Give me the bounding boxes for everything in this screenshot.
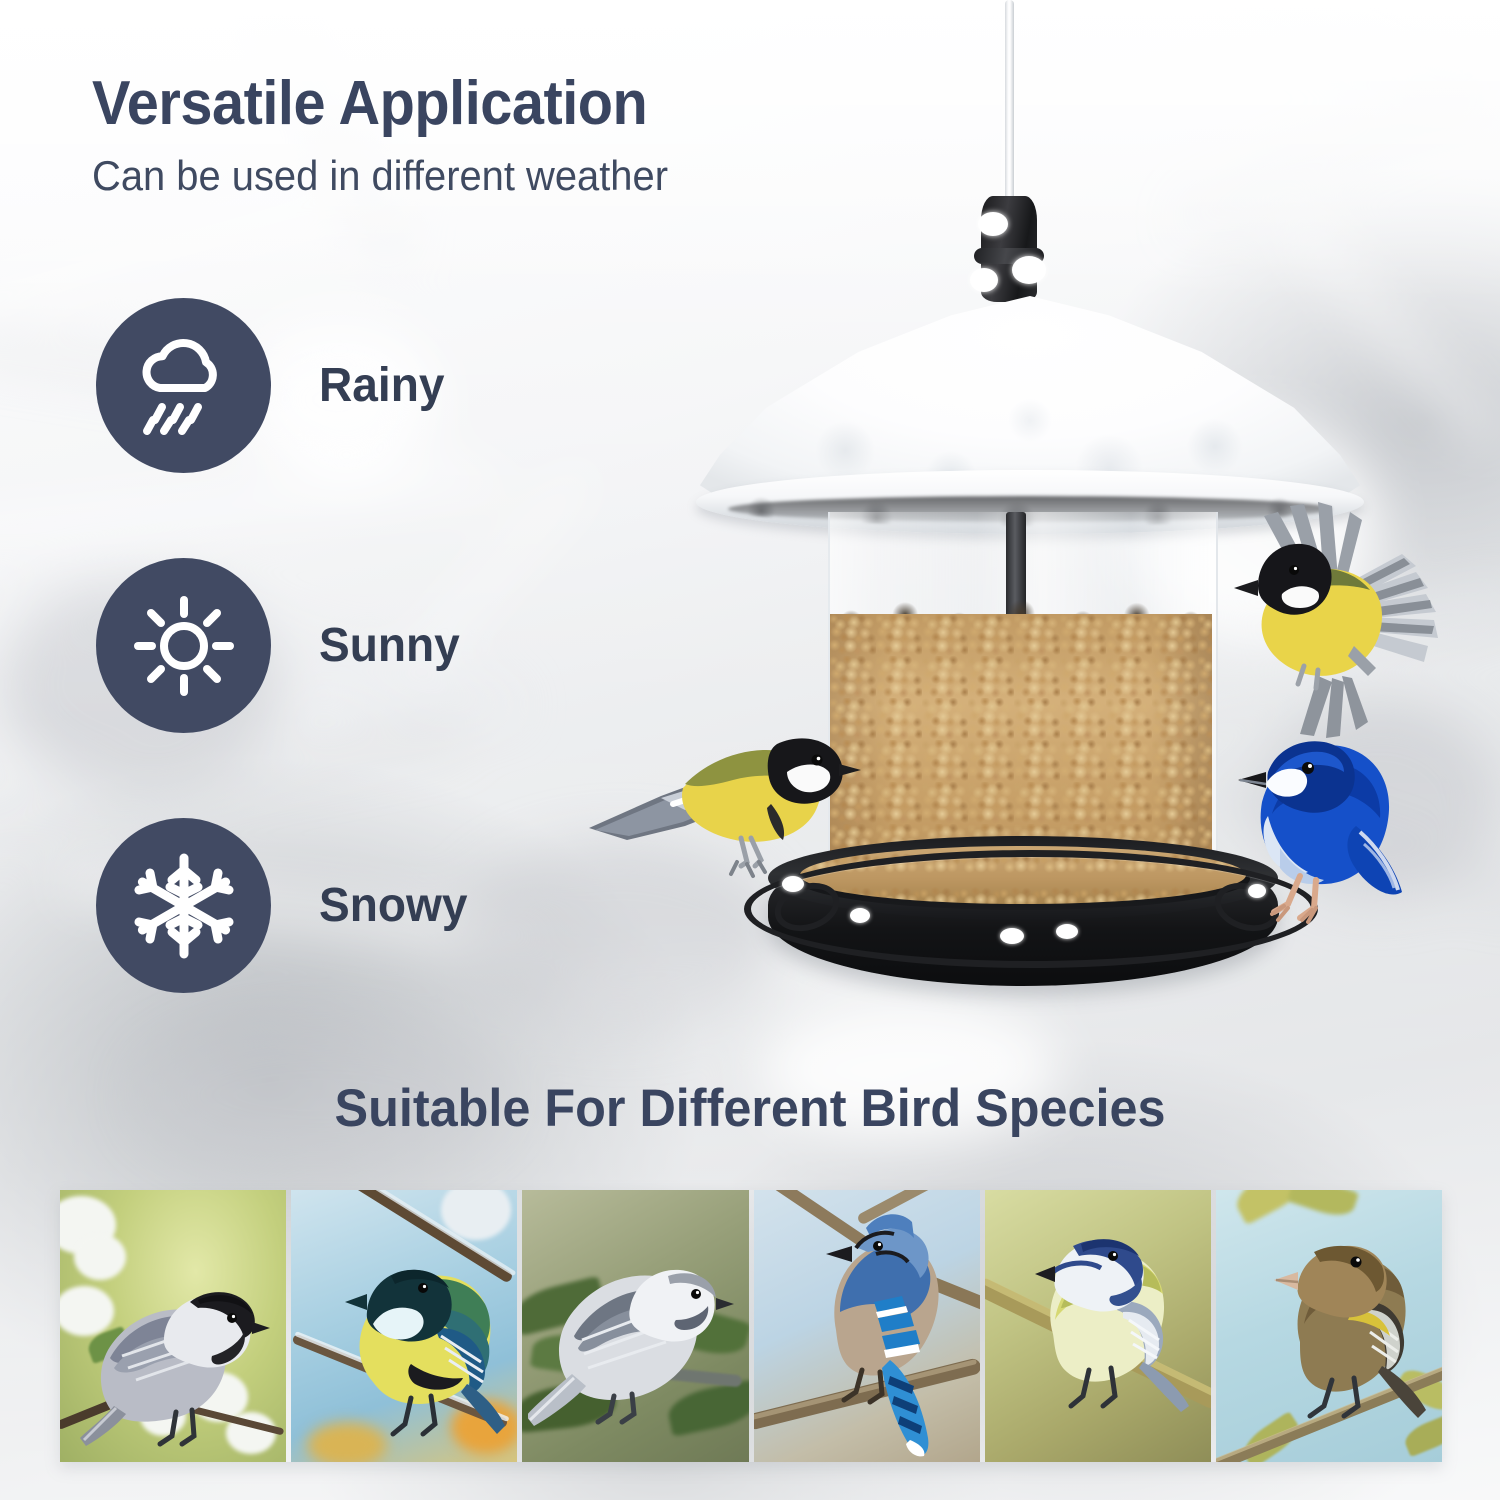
badge-sunny xyxy=(96,558,271,733)
photo-blue-tit-on-branch[interactable] xyxy=(985,1190,1211,1462)
species-section-title: Suitable For Different Bird Species xyxy=(38,1078,1463,1139)
rain-cloud-icon xyxy=(130,332,238,440)
product-feature-poster: Versatile Application Can be used in dif… xyxy=(0,0,1500,1500)
bird-blue-tit xyxy=(1003,1212,1203,1412)
snow-clump xyxy=(1012,256,1046,284)
snow-clump xyxy=(970,268,998,292)
badge-snowy xyxy=(96,818,271,993)
sun-icon xyxy=(130,592,238,700)
photo-greenfinch-on-twig[interactable] xyxy=(1216,1190,1442,1462)
snow-clump xyxy=(978,212,1008,236)
blue-flycatcher-perched-right xyxy=(1168,706,1418,936)
snow-clump xyxy=(1056,924,1078,939)
hanging-bird-feeder xyxy=(560,0,1440,1060)
bird-blue-jay xyxy=(782,1200,972,1460)
feature-row-rainy: Rainy xyxy=(96,298,450,473)
great-tit-perched-left xyxy=(565,680,865,900)
photo-gray-jay-on-conifer[interactable] xyxy=(522,1190,748,1462)
feature-label-sunny: Sunny xyxy=(319,618,460,673)
photo-blue-jay-on-branch[interactable] xyxy=(754,1190,980,1462)
snowflake-icon xyxy=(128,850,240,962)
hanging-cord xyxy=(1005,0,1014,208)
snow-clump xyxy=(1000,928,1024,944)
bird-greenfinch xyxy=(1248,1214,1438,1424)
bird-gray-jay xyxy=(528,1232,738,1432)
species-photo-strip xyxy=(60,1190,1442,1462)
photo-great-tit-on-frosty-branch[interactable] xyxy=(291,1190,517,1462)
photo-chickadee-on-blossom-branch[interactable] xyxy=(60,1190,286,1462)
feature-row-snowy: Snowy xyxy=(96,818,474,993)
feature-label-snowy: Snowy xyxy=(319,878,468,933)
snow-clump xyxy=(850,908,870,923)
bird-chickadee xyxy=(80,1248,270,1448)
feature-row-sunny: Sunny xyxy=(96,558,466,733)
bird-great-tit xyxy=(315,1232,515,1442)
feature-label-rainy: Rainy xyxy=(319,358,444,413)
badge-rainy xyxy=(96,298,271,473)
